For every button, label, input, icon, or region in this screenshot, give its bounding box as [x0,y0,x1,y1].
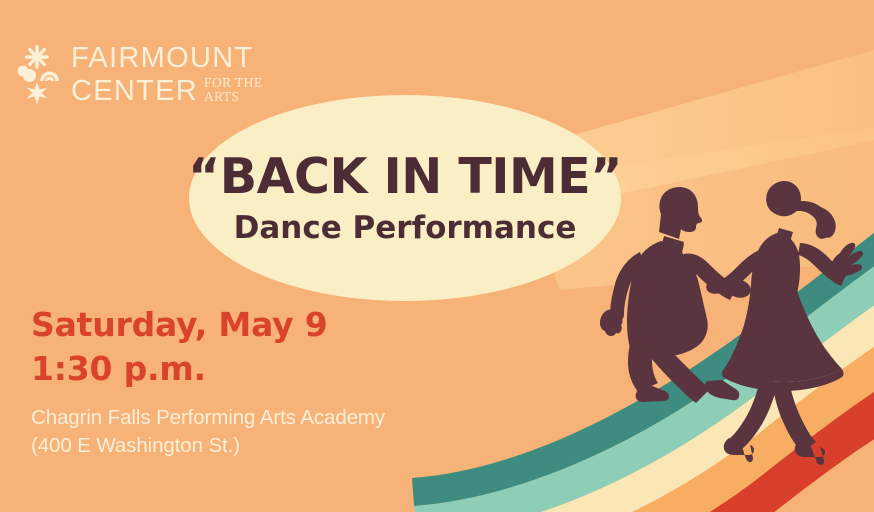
event-headline: “BACK IN TIME” [188,152,622,201]
female-dancer-silhouette-icon [706,181,863,465]
logo-line-center: CENTER [71,77,198,106]
logo-wordmark: FAIRMOUNT CENTER FOR THE ARTS [71,44,262,106]
poster-canvas: FAIRMOUNT CENTER FOR THE ARTS “BACK IN T… [0,0,874,512]
event-subheadline: Dance Performance [234,213,577,244]
logo-tagline: FOR THE ARTS [204,76,262,106]
fairmount-starburst-mark-icon [16,44,62,106]
event-date: Saturday, May 9 [31,303,385,347]
title-block: “BACK IN TIME” Dance Performance [189,95,621,301]
event-venue: Chagrin Falls Performing Arts Academy (4… [31,404,385,460]
logo-tagline-line2: ARTS [204,90,262,104]
venue-name: Chagrin Falls Performing Arts Academy [31,404,385,432]
venue-address: (400 E Washington St.) [31,432,385,460]
event-time: 1:30 p.m. [31,347,385,391]
logo-tagline-line1: FOR THE [204,76,262,90]
logo-line-fairmount: FAIRMOUNT [71,44,262,73]
fairmount-logo[interactable]: FAIRMOUNT CENTER FOR THE ARTS [16,44,262,106]
event-details: Saturday, May 9 1:30 p.m. Chagrin Falls … [31,303,385,460]
